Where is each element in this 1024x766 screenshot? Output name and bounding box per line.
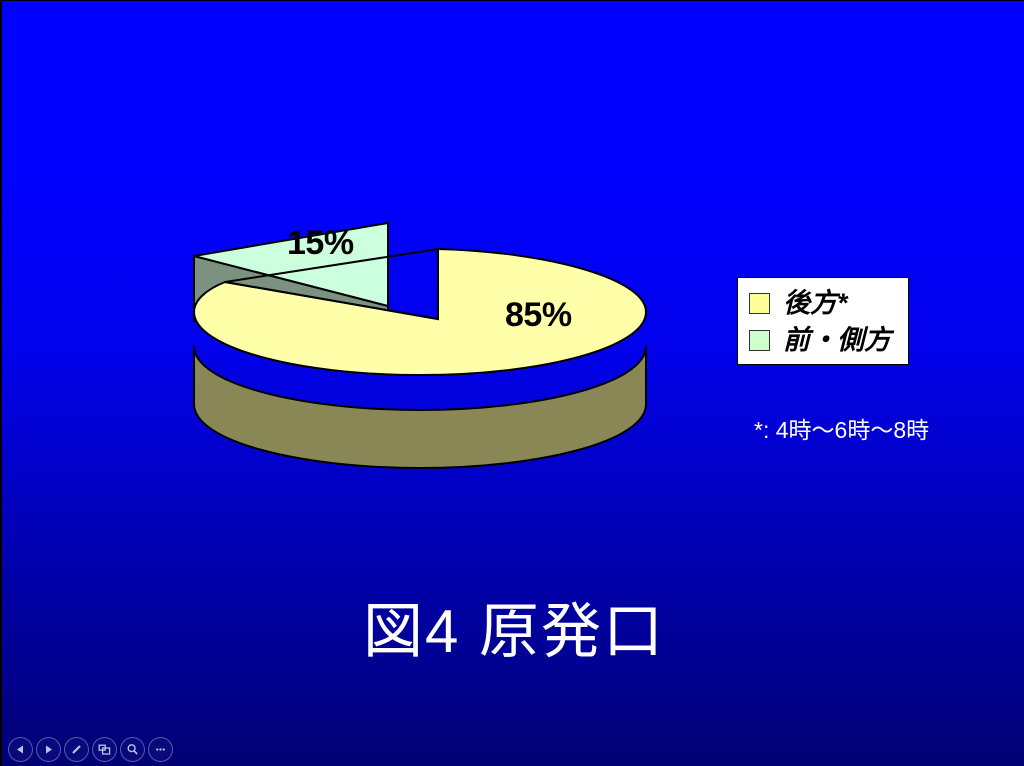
pie-chart: 15% 85% bbox=[152, 196, 752, 486]
legend-label-major: 後方* bbox=[783, 290, 848, 317]
pen-tool-button[interactable] bbox=[64, 737, 89, 762]
slide-title: 図4 原発口 bbox=[2, 583, 1024, 670]
zoom-button[interactable] bbox=[120, 737, 145, 762]
presentation-slide: 15% 85% 後方* 前・側方 *: 4時〜6時〜8時 図4 原発口 bbox=[0, 0, 1024, 766]
ellipsis-icon bbox=[154, 743, 167, 756]
legend-item-minor[interactable]: 前・側方 bbox=[749, 322, 908, 359]
triangle-left-icon bbox=[15, 744, 26, 755]
legend-swatch-major bbox=[749, 293, 770, 314]
triangle-right-icon bbox=[43, 744, 54, 755]
slice-label-minor: 15% bbox=[287, 224, 354, 263]
previous-slide-button[interactable] bbox=[8, 737, 33, 762]
magnifier-icon bbox=[126, 743, 139, 756]
slide-overview-button[interactable] bbox=[92, 737, 117, 762]
pie-chart-graphic bbox=[152, 196, 752, 486]
slides-icon bbox=[98, 743, 111, 756]
next-slide-button[interactable] bbox=[36, 737, 61, 762]
pen-icon bbox=[70, 743, 83, 756]
chart-legend: 後方* 前・側方 bbox=[737, 277, 909, 365]
legend-swatch-minor bbox=[749, 330, 770, 351]
slideshow-toolbar bbox=[8, 737, 173, 762]
legend-item-major[interactable]: 後方* bbox=[749, 285, 908, 322]
footnote-text: *: 4時〜6時〜8時 bbox=[754, 411, 929, 445]
legend-label-minor: 前・側方 bbox=[783, 327, 891, 354]
slice-label-major: 85% bbox=[505, 296, 572, 335]
more-options-button[interactable] bbox=[148, 737, 173, 762]
